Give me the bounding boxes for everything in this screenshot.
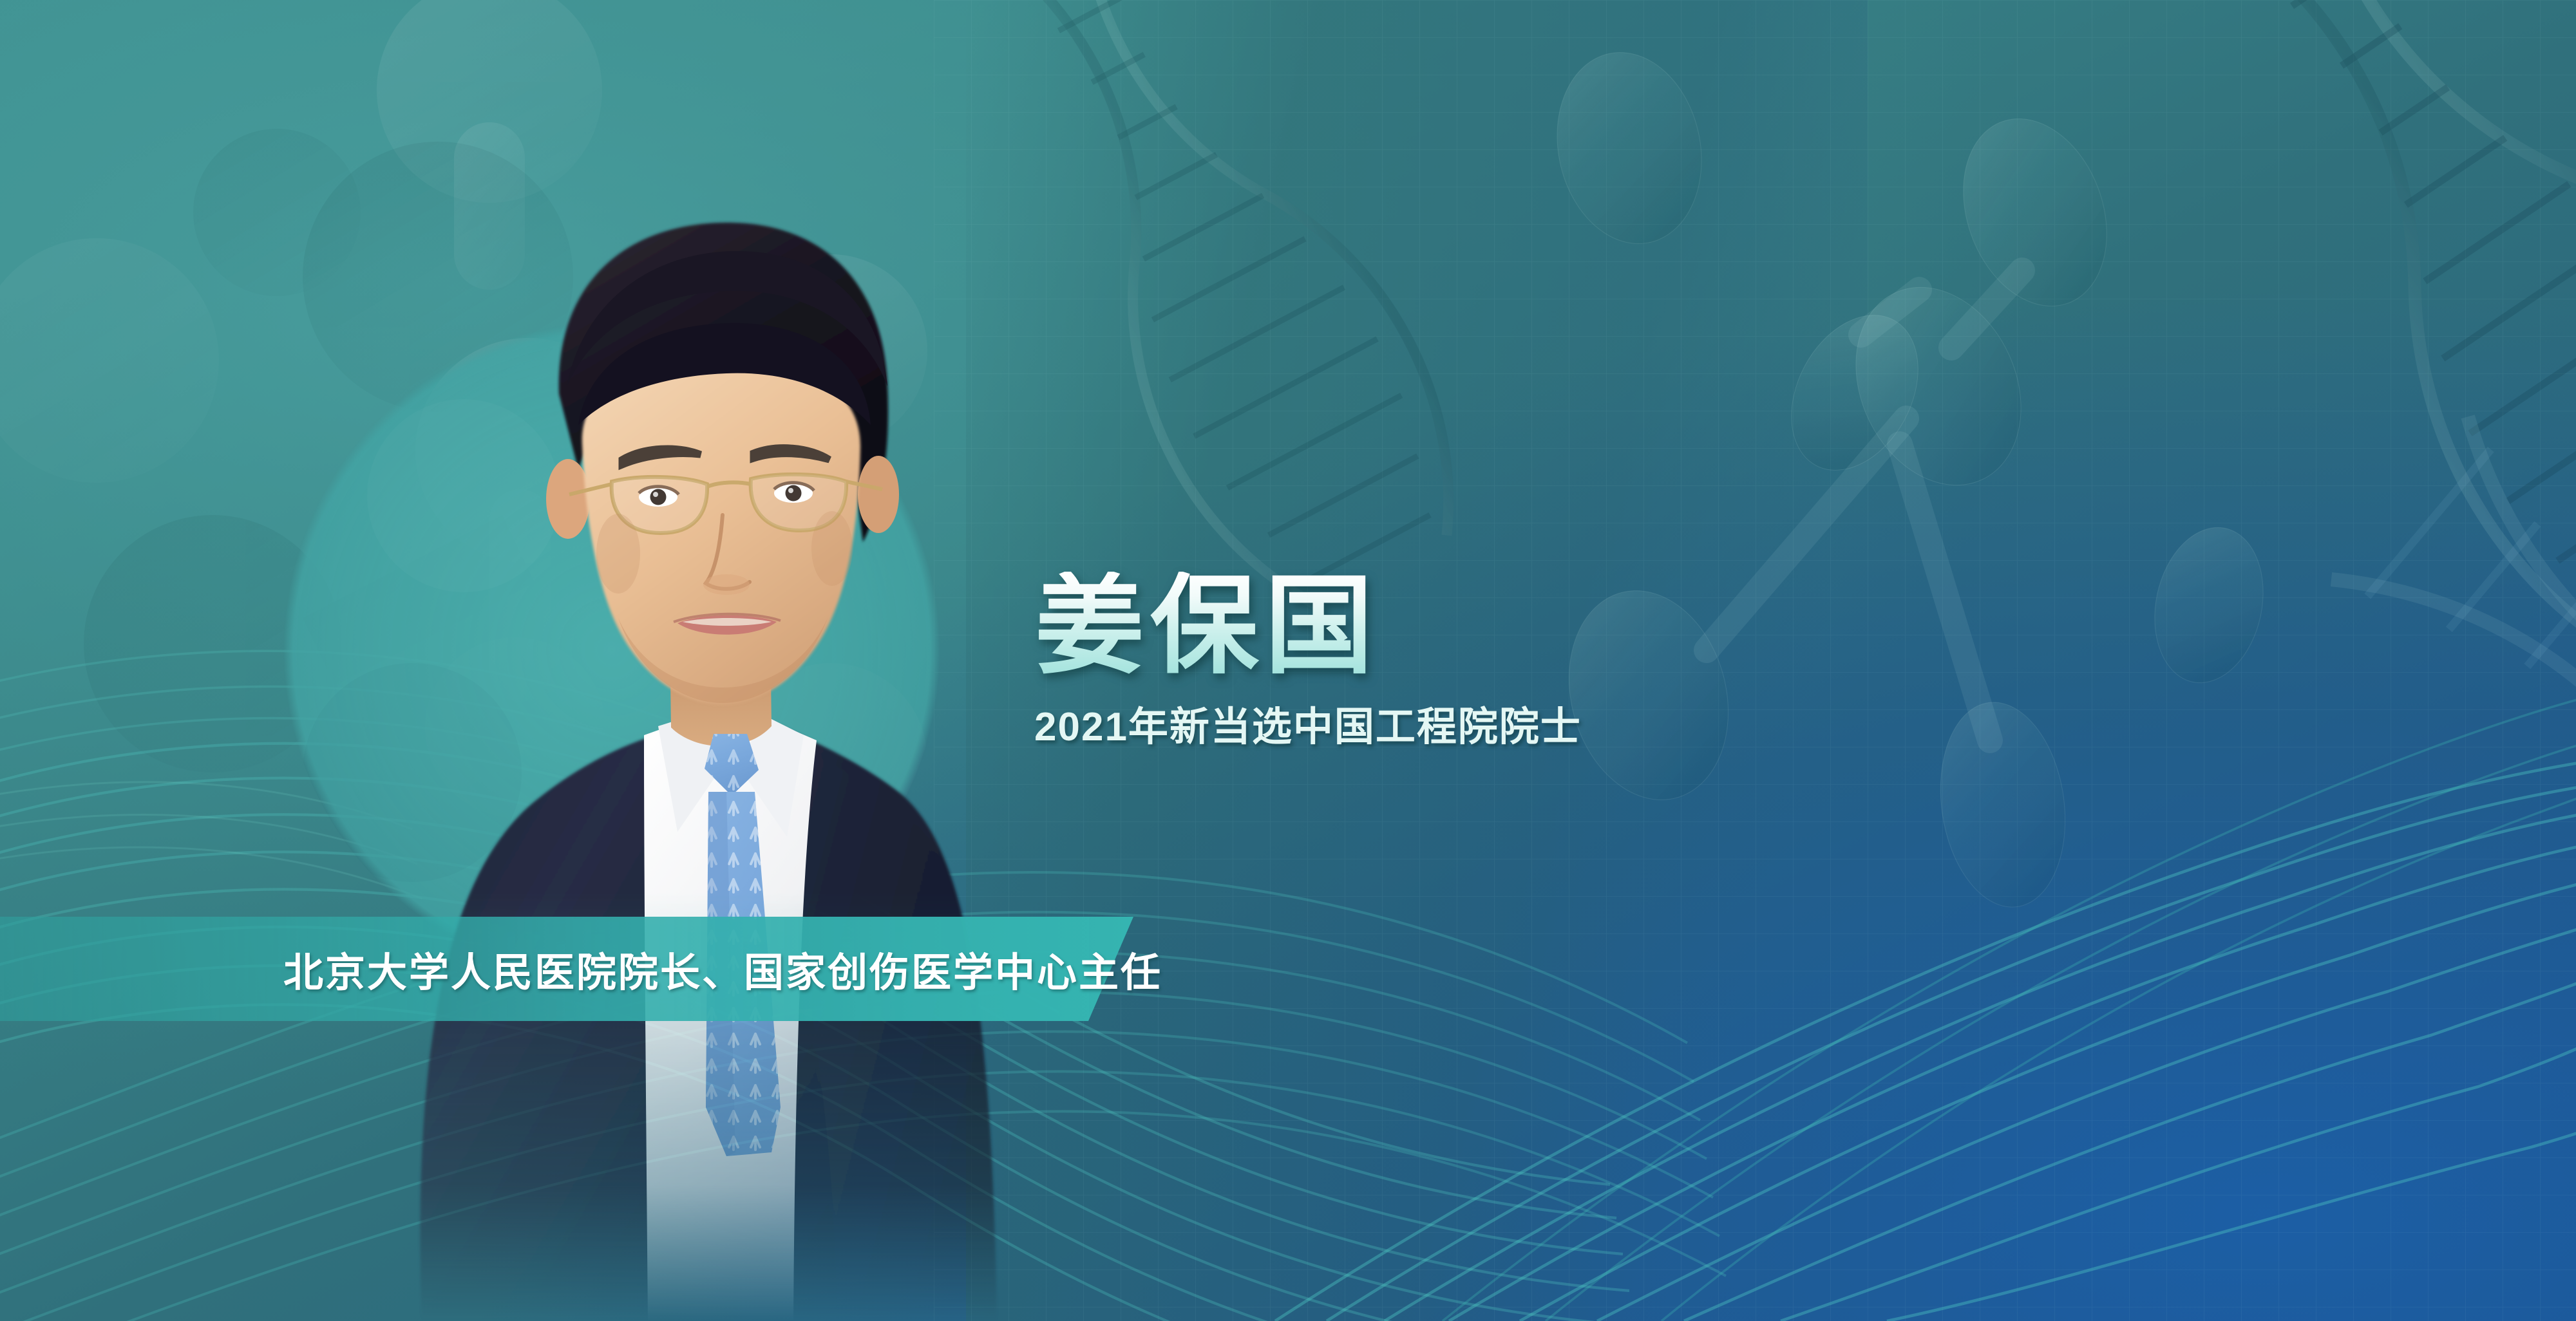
title-banner: 北京大学人民医院院长、国家创伤医学中心主任	[0, 917, 1133, 1021]
banner-title-text: 北京大学人民医院院长、国家创伤医学中心主任	[283, 917, 1162, 1021]
election-note: 2021年新当选中国工程院院士	[1034, 694, 1582, 752]
person-name: 姜保国	[1036, 572, 1379, 680]
hero-banner: 姜保国 2021年新当选中国工程院院士 北京大学人民医院院长、国家创伤医学中心主…	[0, 0, 2576, 1321]
